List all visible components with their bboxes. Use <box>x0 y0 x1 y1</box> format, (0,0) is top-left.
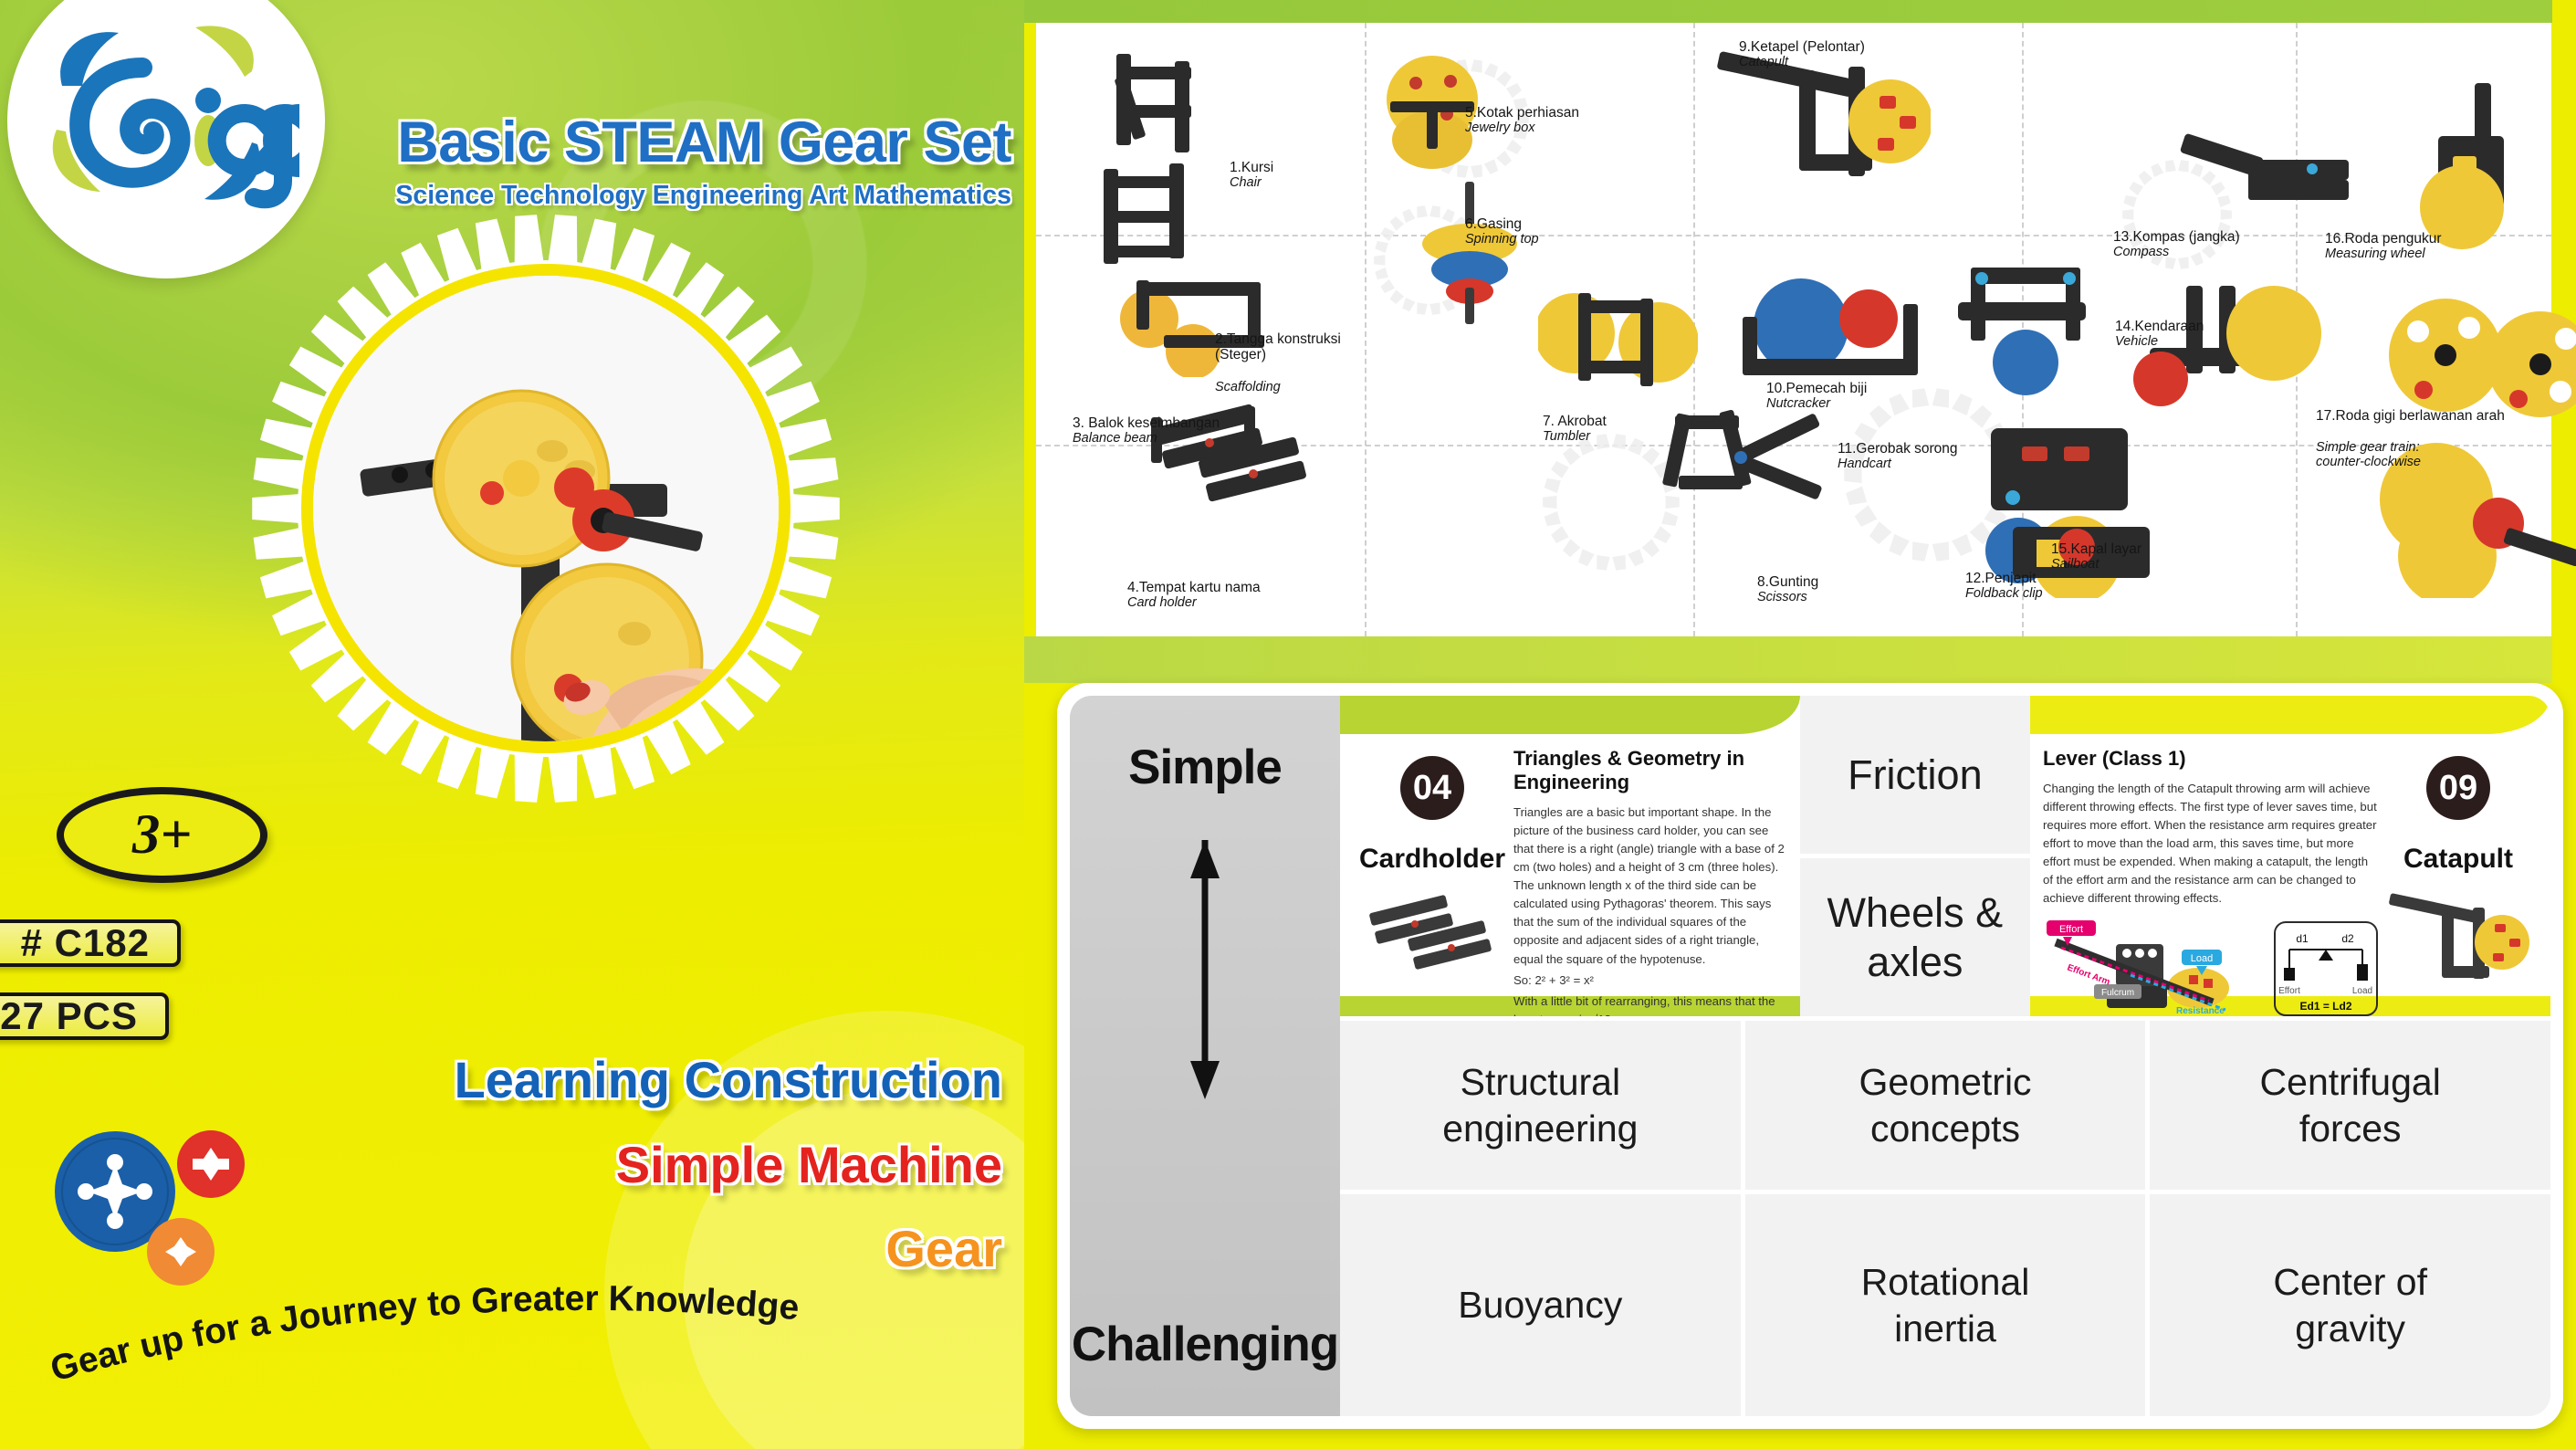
hero-image <box>245 207 847 810</box>
red-gear-icon <box>177 1130 245 1198</box>
model-label-15: 15.Kapal layar Sailboat <box>2051 541 2141 572</box>
product-code-tab: # C182 <box>0 919 181 967</box>
svg-text:Ed1 = Ld2: Ed1 = Ld2 <box>2299 1000 2351 1013</box>
model-thumb-chair <box>1091 39 1219 167</box>
concept-geometric-concepts: Geometric concepts <box>1745 1021 2151 1190</box>
lever-formula-diagram: d1 d2 Effort L <box>2271 919 2381 1016</box>
svg-text:Load: Load <box>2352 986 2372 996</box>
concept-wheels-axles: Wheels & axles <box>1800 858 2030 1016</box>
svg-text:Load: Load <box>2191 953 2213 964</box>
axis-label-simple: Simple <box>1128 740 1282 795</box>
model-label-13: 13.Kompas (jangka) Compass <box>2113 229 2240 260</box>
card-body: 09 Catapult <box>2030 734 2550 996</box>
concept-centrifugal-forces: Centrifugal forces <box>2150 1021 2550 1190</box>
model-label-12: 12.Penjepit Foldback clip <box>1965 571 2043 602</box>
model-thumb-spinning-top <box>1401 178 1538 333</box>
grid-line <box>1365 23 1367 636</box>
grid-line <box>1036 235 2551 236</box>
mid-green-strip <box>1024 636 2576 683</box>
tagline: Gear up for a Journey to Greater Knowled… <box>27 1274 995 1402</box>
age-badge-label: 3+ <box>132 803 192 867</box>
matrix-row-top: 04 Cardholder <box>1340 696 2550 1021</box>
product-code-label: # C182 <box>21 921 150 965</box>
gear-model-photo <box>313 276 791 753</box>
card-model-name: Catapult <box>2381 844 2536 875</box>
gigo-logo-mark <box>35 20 299 216</box>
left-panel: Basic STEAM Gear Set Science Technology … <box>0 0 1024 1449</box>
model-thumb-scissors <box>1657 397 1839 534</box>
card-body-text: Triangles are a basic but important shap… <box>1513 803 1785 969</box>
svg-text:Gear up for a Journey to Great: Gear up for a Journey to Greater Knowled… <box>47 1279 801 1390</box>
model-label-8: 8.Gunting Scissors <box>1757 574 1818 605</box>
model-label-1: 1.Kursi Chair <box>1230 160 1273 191</box>
card-right-column: Lever (Class 1) Changing the length of t… <box>2039 747 2381 983</box>
card-cardholder[interactable]: 04 Cardholder <box>1340 696 1800 1016</box>
model-label-14: 14.Kendaraan Vehicle <box>2115 319 2204 350</box>
model-thumb-handcart <box>1949 251 2131 397</box>
model-thumb-compass <box>2177 123 2360 233</box>
model-label-3: 3. Balok keseimbangan Balance beam <box>1073 415 1220 446</box>
matrix-cells: 04 Cardholder <box>1340 696 2550 1416</box>
headline-simple-machine: Simple Machine <box>616 1135 1002 1194</box>
top-green-strip <box>1024 0 2576 23</box>
hero-photo-ring <box>301 264 791 753</box>
headline-learning-construction: Learning Construction <box>455 1050 1002 1109</box>
card-left-column: 09 Catapult <box>2381 747 2536 983</box>
card-left-column: 04 Cardholder <box>1355 747 1510 983</box>
lever-diagram: Effort Load Fulcrum Effort Arm Resis <box>2043 919 2253 1016</box>
card-top-band <box>2030 696 2550 734</box>
decorative-gear-icons <box>44 1108 290 1290</box>
svg-text:Effort: Effort <box>2059 924 2083 935</box>
card-heading: Lever (Class 1) <box>2043 747 2381 771</box>
svg-text:d1: d1 <box>2296 932 2309 945</box>
model-label-7: 7. Akrobat Tumbler <box>1543 414 1607 445</box>
svg-text:Fulcrum: Fulcrum <box>2101 988 2134 998</box>
piece-count-label: 27 PCS <box>0 994 138 1038</box>
card-number-badge: 09 <box>2426 756 2490 820</box>
concept-column-right: Friction Wheels & axles <box>1800 696 2030 1016</box>
catapult-model-icon <box>2385 889 2531 990</box>
concept-center-of-gravity: Center of gravity <box>2150 1194 2550 1416</box>
bottom-yellow-frame <box>1024 1429 2576 1449</box>
difficulty-matrix-panel: Simple Challenging <box>1057 683 2563 1429</box>
model-label-6: 6.Gasing Spinning top <box>1465 216 1539 247</box>
model-thumb-tumbler <box>1538 273 1698 405</box>
axis-label-challenging: Challenging <box>1072 1317 1338 1372</box>
card-number-badge: 04 <box>1400 756 1464 820</box>
model-label-4: 4.Tempat kartu nama Card holder <box>1127 580 1261 611</box>
package-artwork: Basic STEAM Gear Set Science Technology … <box>0 0 2576 1449</box>
svg-text:Effort Arm: Effort Arm <box>2066 963 2111 988</box>
model-label-11: 11.Gerobak sorong Handcart <box>1838 441 1958 472</box>
title-block: Basic STEAM Gear Set Science Technology … <box>336 110 1011 211</box>
card-right-column: Triangles & Geometry in Engineering Tria… <box>1510 747 1785 983</box>
card-top-band <box>1340 696 1800 734</box>
cardholder-model-icon <box>1364 887 1501 975</box>
card-closing-text: With a little bit of rearranging, this m… <box>1513 992 1785 1016</box>
svg-text:d2: d2 <box>2341 932 2354 945</box>
svg-text:Resistance: Resistance <box>2176 1006 2225 1016</box>
down-arrow-icon <box>1187 833 1223 1107</box>
model-label-17: 17.Roda gigi berlawanan arah Simple gear… <box>2316 392 2505 487</box>
model-thumb-nutcracker <box>1730 253 1940 390</box>
concept-buoyancy: Buoyancy <box>1340 1194 1745 1416</box>
card-heading: Triangles & Geometry in Engineering <box>1513 747 1785 794</box>
difficulty-axis: Simple Challenging <box>1070 696 1340 1416</box>
matrix-row-bottom: Buoyancy Rotational inertia Center of gr… <box>1340 1194 2550 1416</box>
card-model-name: Cardholder <box>1355 844 1510 875</box>
model-thumb-measuring-wheel <box>2387 78 2570 251</box>
card-catapult[interactable]: 09 Catapult <box>2030 696 2550 1016</box>
concept-friction: Friction <box>1800 696 2030 858</box>
model-label-10: 10.Pemecah biji Nutcracker <box>1766 381 1867 412</box>
model-label-9: 9.Ketapel (Pelontar) Catapult <box>1739 39 1865 70</box>
card-equation-line: So: 2² + 3² = x² <box>1513 971 1785 990</box>
model-thumb-scaffolding <box>1082 152 1214 280</box>
svg-text:Effort: Effort <box>2278 986 2300 996</box>
card-body-text: Changing the length of the Catapult thro… <box>2043 780 2381 908</box>
model-label-16: 16.Roda pengukur Measuring wheel <box>2325 231 2442 262</box>
headline-gear: Gear <box>885 1219 1002 1278</box>
model-label-2: 2.Tangga konstruksi (Steger) Scaffolding <box>1215 315 1341 411</box>
model-label-5: 5.Kotak perhiasan Jewelry box <box>1465 105 1579 136</box>
age-badge: 3+ <box>57 787 267 883</box>
card-body: 04 Cardholder <box>1340 734 1800 996</box>
concept-structural-engineering: Structural engineering <box>1340 1021 1745 1190</box>
matrix-row-middle: Structural engineering Geometric concept… <box>1340 1021 2550 1194</box>
difficulty-matrix: Simple Challenging <box>1070 696 2550 1416</box>
models-panel: 1.Kursi Chair 2.Tangga konstruksi (Stege… <box>1036 23 2551 636</box>
product-title: Basic STEAM Gear Set <box>336 110 1011 175</box>
hero-photo <box>313 276 779 741</box>
piece-count-tab: 27 PCS <box>0 992 169 1040</box>
concept-rotational-inertia: Rotational inertia <box>1745 1194 2151 1416</box>
